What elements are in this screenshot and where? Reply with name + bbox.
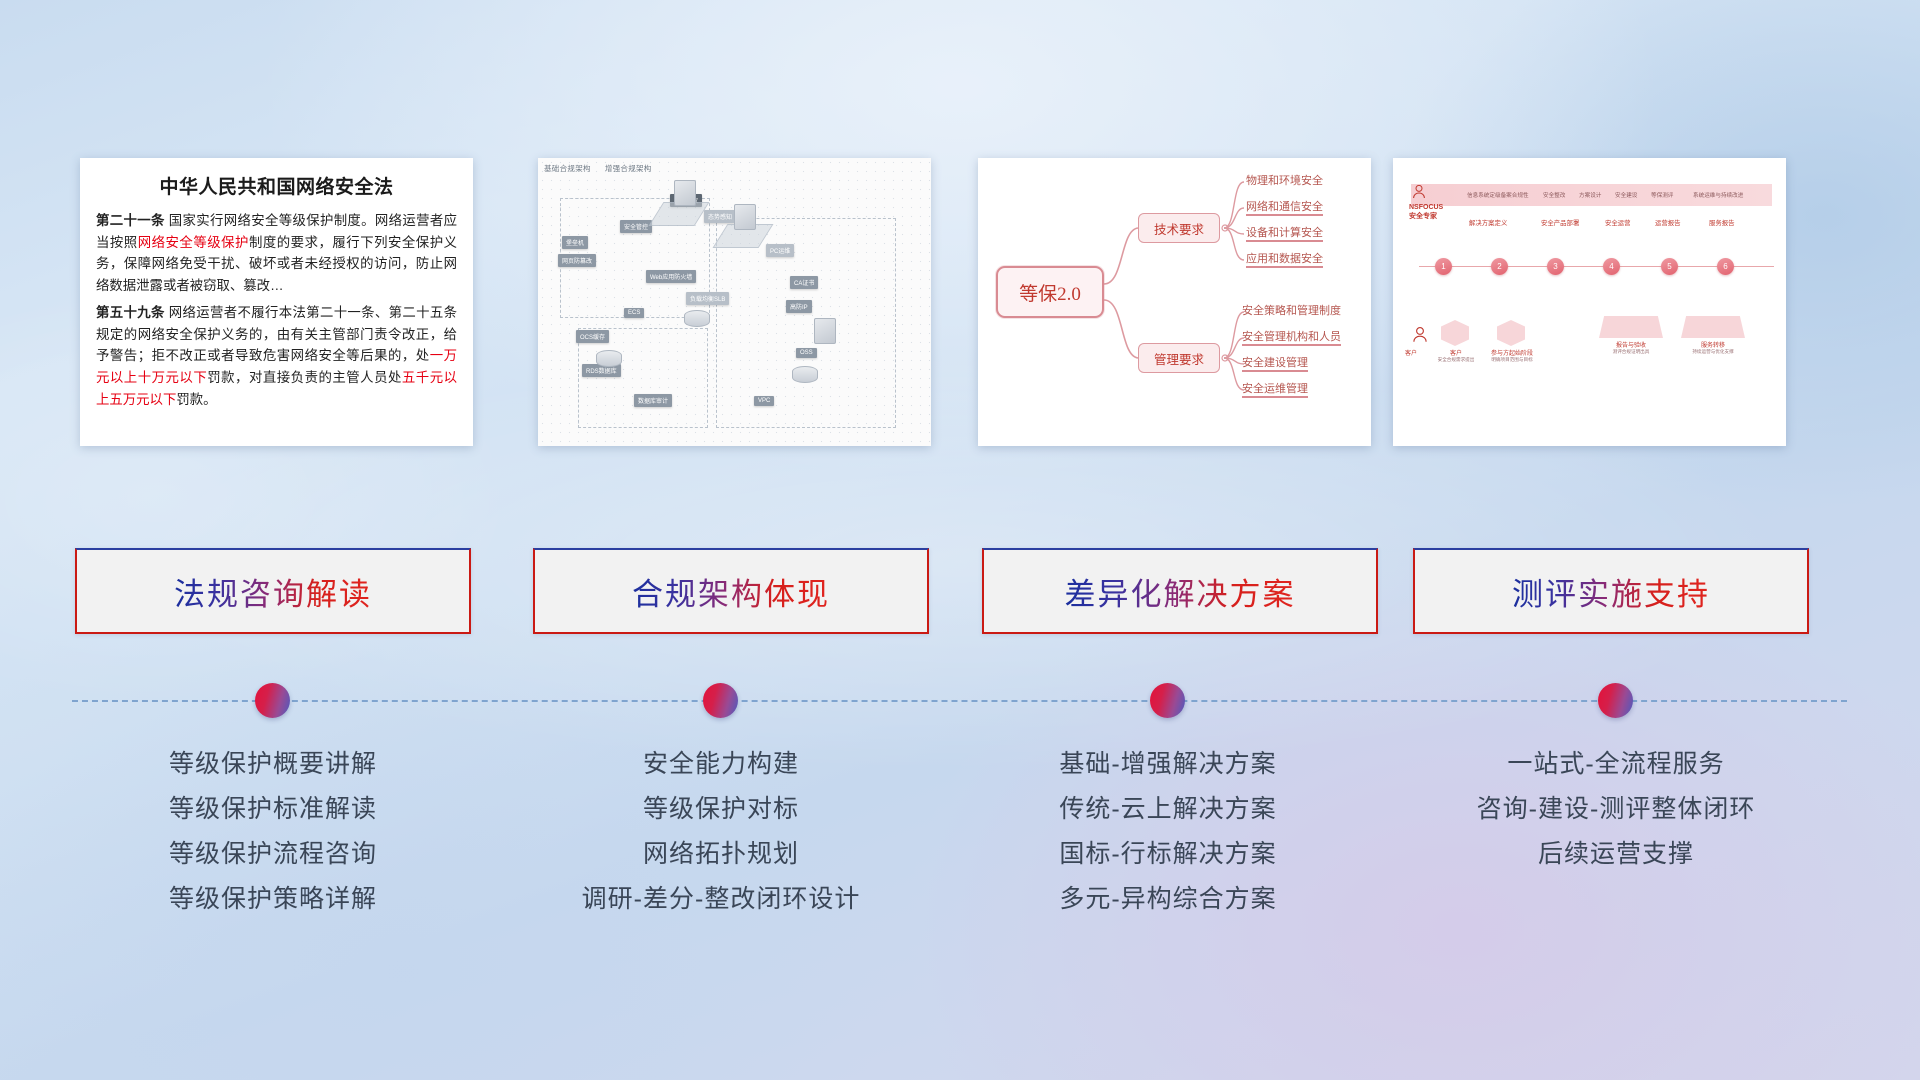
list-item: 传统-云上解决方案	[958, 787, 1378, 832]
title-label-3: 测评实施支持	[1512, 569, 1710, 614]
timeline-dot-1[interactable]	[255, 683, 290, 718]
list-assessment-support: 一站式-全流程服务 咨询-建设-测评整体闭环 后续运营支撑	[1406, 742, 1826, 877]
list-item: 后续运营支撑	[1406, 832, 1826, 877]
list-item: 咨询-建设-测评整体闭环	[1406, 787, 1826, 832]
timeline-dashed-line	[72, 700, 1847, 702]
title-box-differentiated-solution[interactable]: 差异化解决方案	[982, 548, 1378, 634]
list-item: 等级保护概要讲解	[63, 742, 483, 787]
list-item: 一站式-全流程服务	[1406, 742, 1826, 787]
title-box-regulation-consulting[interactable]: 法规咨询解读	[75, 548, 471, 634]
list-item: 基础-增强解决方案	[958, 742, 1378, 787]
title-box-assessment-support[interactable]: 测评实施支持	[1413, 548, 1809, 634]
list-item: 等级保护标准解读	[63, 787, 483, 832]
title-label-2: 差异化解决方案	[1065, 569, 1296, 614]
list-compliance-architecture: 安全能力构建 等级保护对标 网络拓扑规划 调研-差分-整改闭环设计	[511, 742, 931, 922]
list-item: 等级保护对标	[511, 787, 931, 832]
list-item: 安全能力构建	[511, 742, 931, 787]
list-item: 等级保护流程咨询	[63, 832, 483, 877]
title-label-1: 合规架构体现	[632, 569, 830, 614]
timeline-dot-2[interactable]	[703, 683, 738, 718]
title-box-compliance-architecture[interactable]: 合规架构体现	[533, 548, 929, 634]
list-item: 国标-行标解决方案	[958, 832, 1378, 877]
list-item: 等级保护策略详解	[63, 877, 483, 922]
list-item: 调研-差分-整改闭环设计	[511, 877, 931, 922]
list-item: 多元-异构综合方案	[958, 877, 1378, 922]
list-differentiated-solution: 基础-增强解决方案 传统-云上解决方案 国标-行标解决方案 多元-异构综合方案	[958, 742, 1378, 922]
timeline-dot-3[interactable]	[1150, 683, 1185, 718]
timeline-dot-4[interactable]	[1598, 683, 1633, 718]
list-item: 网络拓扑规划	[511, 832, 931, 877]
title-label-0: 法规咨询解读	[174, 569, 372, 614]
list-regulation-consulting: 等级保护概要讲解 等级保护标准解读 等级保护流程咨询 等级保护策略详解	[63, 742, 483, 922]
